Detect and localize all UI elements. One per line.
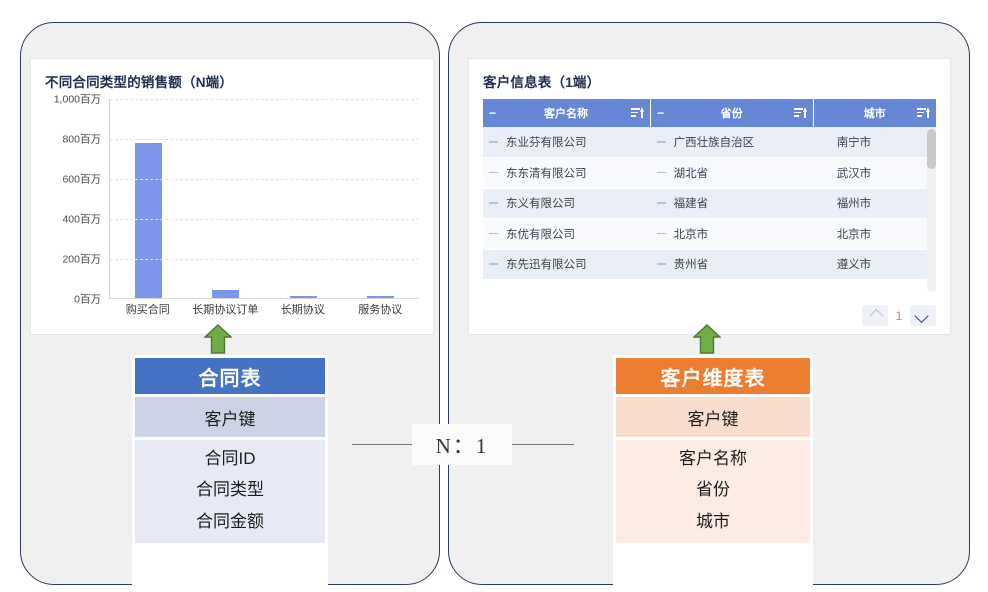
- table-row[interactable]: 东东清有限公司湖北省武汉市: [483, 158, 936, 189]
- relationship-line-left: [352, 444, 412, 445]
- bar-slot: [342, 99, 419, 298]
- table-pagination: 1: [862, 305, 936, 326]
- cell-text: 北京市: [837, 226, 872, 242]
- table-cell-customer: 东业芬有限公司: [483, 127, 651, 158]
- y-axis-tick: 600百万: [62, 172, 101, 187]
- y-axis-tick: 800百万: [62, 132, 101, 147]
- collapse-minus-icon[interactable]: −: [657, 107, 669, 119]
- cell-text: 北京市: [674, 226, 709, 242]
- cell-text: 武汉市: [837, 165, 872, 181]
- table-header-label: 省份: [669, 105, 794, 121]
- x-axis-tick: 购买合同: [109, 301, 187, 317]
- sort-ascending-icon[interactable]: [794, 107, 807, 119]
- row-expand-minus-icon[interactable]: [657, 259, 667, 269]
- chart-plot-area: 0百万200百万400百万600百万800百万1,000百万 购买合同长期协议订…: [43, 99, 425, 328]
- pagination-next-button[interactable]: [910, 305, 936, 326]
- table-row[interactable]: 东业芬有限公司广西壮族自治区南宁市: [483, 127, 936, 158]
- x-axis-tick: 长期协议: [264, 301, 342, 317]
- cell-text: 广西壮族自治区: [674, 134, 755, 150]
- table-row[interactable]: 东先迅有限公司贵州省遵义市: [483, 249, 936, 280]
- bar-slot: [187, 99, 264, 298]
- x-axis-tick: 长期协议订单: [187, 301, 265, 317]
- chart-gridline: [110, 259, 419, 260]
- green-up-arrow-icon-left: [204, 324, 232, 354]
- table-cell-city: 北京市: [814, 219, 936, 250]
- entity-box-customer-dimension-table: 客户维度表 客户键 客户名称省份城市: [613, 355, 813, 585]
- entity-left-field-list: 合同ID合同类型合同金额: [135, 440, 325, 543]
- y-axis-tick: 200百万: [62, 252, 101, 267]
- relationship-line-right: [512, 444, 574, 445]
- table-cell-city: 武汉市: [814, 158, 936, 189]
- table-cell-customer: 东优有限公司: [483, 219, 651, 250]
- chart-gridline: [110, 99, 419, 100]
- table-cell-city: 福州市: [814, 188, 936, 219]
- sales-by-contract-type-chart-card: 不同合同类型的销售额（N端） 0百万200百万400百万600百万800百万1,…: [30, 58, 434, 335]
- entity-field: 合同类型: [196, 477, 264, 503]
- table-cell-customer: 东义有限公司: [483, 188, 651, 219]
- cell-text: 东优有限公司: [506, 226, 575, 242]
- table-cell-customer: 东先迅有限公司: [483, 249, 651, 280]
- table-header-2[interactable]: −城市: [814, 99, 936, 127]
- bar-series: [110, 99, 419, 298]
- chart-gridline: [110, 219, 419, 220]
- cell-text: 东业芬有限公司: [506, 134, 587, 150]
- cell-text: 东东清有限公司: [506, 165, 587, 181]
- entity-box-contract-table: 合同表 客户键 合同ID合同类型合同金额: [132, 355, 328, 585]
- entity-right-title: 客户维度表: [616, 358, 810, 394]
- y-axis-tick: 0百万: [74, 292, 101, 307]
- x-axis-tick: 服务协议: [342, 301, 420, 317]
- table-header-label: 客户名称: [501, 105, 631, 121]
- entity-field: 省份: [696, 477, 730, 503]
- collapse-minus-icon[interactable]: −: [489, 107, 501, 119]
- row-expand-minus-icon[interactable]: [489, 168, 499, 178]
- customer-table: −客户名称−省份−城市 东业芬有限公司广西壮族自治区南宁市东东清有限公司湖北省武…: [483, 99, 936, 280]
- cell-text: 东义有限公司: [506, 195, 575, 211]
- table-title: 客户信息表（1端）: [483, 71, 600, 91]
- entity-field: 合同ID: [205, 446, 256, 472]
- table-header-label: 城市: [832, 105, 917, 121]
- cell-text: 湖北省: [674, 165, 709, 181]
- bar-slot: [110, 99, 187, 298]
- table-header-row: −客户名称−省份−城市: [483, 99, 936, 127]
- chart-gridline: [110, 139, 419, 140]
- scrollbar-thumb[interactable]: [927, 129, 936, 169]
- table-cell-province: 广西壮族自治区: [651, 127, 814, 158]
- bar-slot: [265, 99, 342, 298]
- chevron-down-icon: [915, 308, 929, 322]
- cell-text: 福建省: [674, 195, 709, 211]
- entity-field: 合同金额: [196, 509, 264, 535]
- x-axis-tick-labels: 购买合同长期协议订单长期协议服务协议: [109, 301, 419, 317]
- row-expand-minus-icon[interactable]: [657, 168, 667, 178]
- bar-长期协议[interactable]: [290, 296, 317, 298]
- green-up-arrow-icon-right: [693, 324, 721, 354]
- row-expand-minus-icon[interactable]: [657, 198, 667, 208]
- entity-left-title: 合同表: [135, 358, 325, 394]
- er-relationship-diagram: 不同合同类型的销售额（N端） 0百万200百万400百万600百万800百万1,…: [0, 0, 988, 592]
- bar-plot: [109, 99, 419, 299]
- entity-field: 城市: [696, 509, 730, 535]
- chevron-up-icon: [869, 308, 883, 322]
- table-cell-customer: 东东清有限公司: [483, 158, 651, 189]
- cell-text: 福州市: [837, 195, 872, 211]
- pagination-current-page: 1: [895, 309, 903, 323]
- bar-服务协议[interactable]: [367, 296, 394, 298]
- table-row[interactable]: 东义有限公司福建省福州市: [483, 188, 936, 219]
- y-axis-tick: 400百万: [62, 212, 101, 227]
- entity-field: 客户名称: [679, 446, 747, 472]
- table-header-0[interactable]: −客户名称: [483, 99, 651, 127]
- table-cell-province: 福建省: [651, 188, 814, 219]
- bar-购买合同[interactable]: [135, 143, 162, 298]
- row-expand-minus-icon[interactable]: [657, 229, 667, 239]
- entity-right-field-list: 客户名称省份城市: [616, 440, 810, 543]
- pagination-prev-button[interactable]: [862, 305, 888, 326]
- row-expand-minus-icon[interactable]: [489, 198, 499, 208]
- cell-text: 东先迅有限公司: [506, 256, 587, 272]
- row-expand-minus-icon[interactable]: [489, 137, 499, 147]
- bar-长期协议订单[interactable]: [212, 290, 239, 298]
- chart-title: 不同合同类型的销售额（N端）: [45, 71, 233, 91]
- sort-ascending-icon[interactable]: [917, 107, 930, 119]
- cell-text: 贵州省: [674, 256, 709, 272]
- entity-left-key-field: 客户键: [135, 397, 325, 437]
- table-scroll-region[interactable]: −客户名称−省份−城市 东业芬有限公司广西壮族自治区南宁市东东清有限公司湖北省武…: [483, 99, 936, 292]
- table-body: 东业芬有限公司广西壮族自治区南宁市东东清有限公司湖北省武汉市东义有限公司福建省福…: [483, 127, 936, 280]
- table-cell-province: 贵州省: [651, 249, 814, 280]
- y-axis-tick-labels: 0百万200百万400百万600百万800百万1,000百万: [43, 99, 105, 299]
- table-cell-province: 北京市: [651, 219, 814, 250]
- row-expand-minus-icon[interactable]: [657, 137, 667, 147]
- row-expand-minus-icon[interactable]: [489, 229, 499, 239]
- table-cell-city: 南宁市: [814, 127, 936, 158]
- relationship-cardinality-label: N：1: [412, 424, 512, 465]
- entity-right-key-field: 客户键: [616, 397, 810, 437]
- table-cell-province: 湖北省: [651, 158, 814, 189]
- customer-info-table-card: 客户信息表（1端） −客户名称−省份−城市 东业芬有限公司广西壮族自治区南宁市东…: [468, 58, 951, 335]
- table-header-1[interactable]: −省份: [651, 99, 814, 127]
- y-axis-tick: 1,000百万: [54, 92, 101, 107]
- table-cell-city: 遵义市: [814, 249, 936, 280]
- row-expand-minus-icon[interactable]: [489, 259, 499, 269]
- chart-gridline: [110, 179, 419, 180]
- cell-text: 遵义市: [837, 256, 872, 272]
- table-row[interactable]: 东优有限公司北京市北京市: [483, 219, 936, 250]
- sort-ascending-icon[interactable]: [631, 107, 644, 119]
- cell-text: 南宁市: [837, 134, 872, 150]
- table-vertical-scrollbar[interactable]: [927, 127, 936, 292]
